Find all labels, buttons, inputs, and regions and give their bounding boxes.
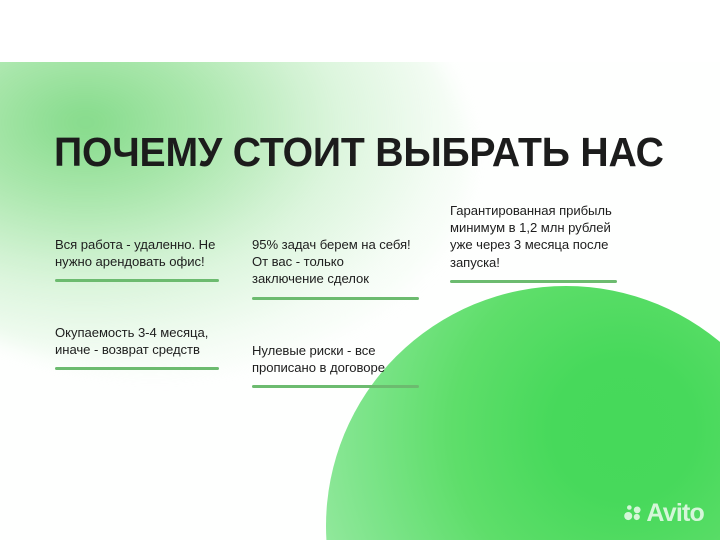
benefit-card-guaranteed-profit: Гарантированная прибыль минимум в 1,2 мл… [450,202,617,283]
benefit-text: Вся работа - удаленно. Не нужно арендова… [55,236,219,270]
benefit-underline [252,297,419,300]
top-letterbox-band [0,0,720,62]
benefit-text: Гарантированная прибыль минимум в 1,2 мл… [450,202,617,271]
benefit-card-payback-period: Окупаемость 3-4 месяца, иначе - возврат … [55,324,219,370]
avito-dots-icon [623,504,642,523]
benefit-card-zero-risk: Нулевые риски - все прописано в договоре [252,342,419,388]
slide-canvas: ПОЧЕМУ СТОИТ ВЫБРАТЬ НАС Вся работа - уд… [0,62,720,540]
benefit-text: Нулевые риски - все прописано в договоре [252,342,419,376]
benefits-grid: Вся работа - удаленно. Не нужно арендова… [0,62,720,540]
avito-watermark: Avito [623,501,704,526]
benefit-underline [450,280,617,283]
benefit-text: 95% задач берем на себя! От вас - только… [252,236,419,288]
avito-wordmark: Avito [646,501,704,526]
benefit-underline [252,385,419,388]
benefit-card-remote-work: Вся работа - удаленно. Не нужно арендова… [55,236,219,282]
promo-slide: ПОЧЕМУ СТОИТ ВЫБРАТЬ НАС Вся работа - уд… [0,0,720,540]
benefit-card-tasks-taken: 95% задач берем на себя! От вас - только… [252,236,419,300]
benefit-underline [55,279,219,282]
benefit-underline [55,367,219,370]
benefit-text: Окупаемость 3-4 месяца, иначе - возврат … [55,324,219,358]
